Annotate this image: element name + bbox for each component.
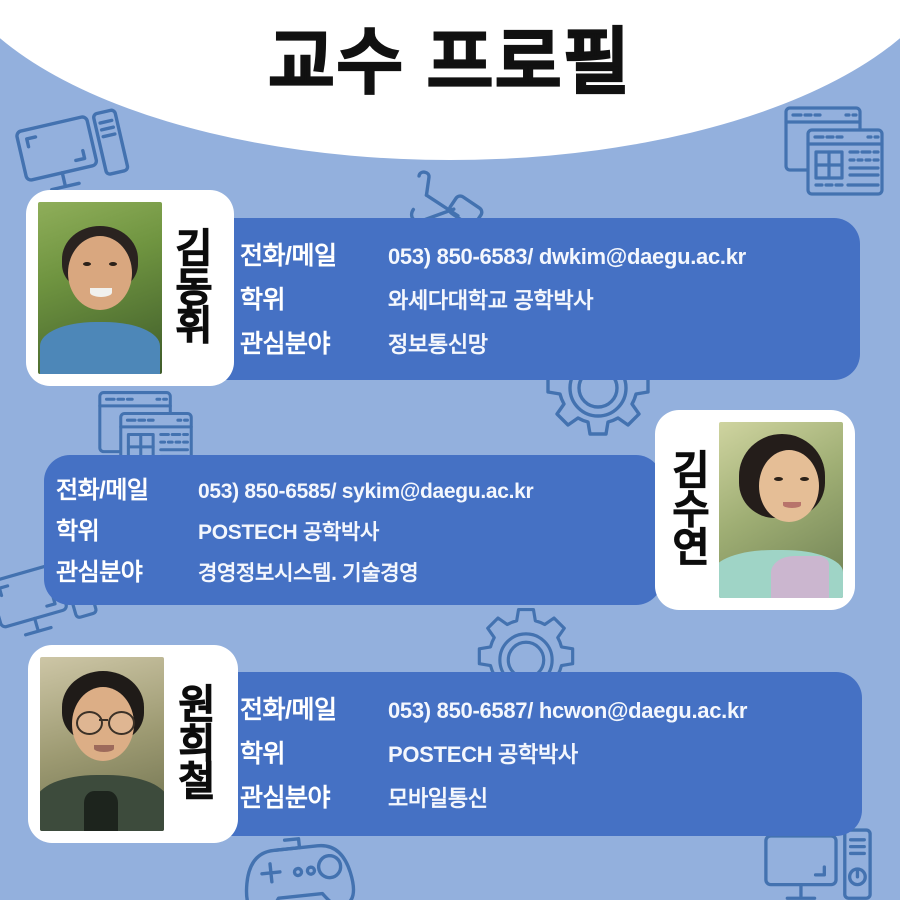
name-char: 수 bbox=[673, 491, 710, 529]
name-char: 김 bbox=[176, 230, 213, 268]
professor-fields: 전화/메일 053) 850-6583/ dwkim@daegu.ac.kr 학… bbox=[240, 236, 746, 360]
desktop-computer-icon bbox=[762, 826, 874, 900]
name-char: 김 bbox=[673, 452, 710, 490]
field-value-degree: POSTECH 공학박사 bbox=[198, 516, 379, 546]
field-label-contact: 전화/메일 bbox=[240, 236, 388, 272]
professor-profile-poster: 교수 프로필 bbox=[0, 0, 900, 900]
professor-name: 원 희 철 bbox=[168, 686, 226, 801]
name-char: 원 bbox=[179, 686, 216, 724]
name-char: 연 bbox=[673, 529, 710, 567]
field-row-contact: 전화/메일 053) 850-6587/ hcwon@daegu.ac.kr bbox=[240, 690, 747, 726]
name-char: 희 bbox=[179, 725, 216, 763]
name-char: 휘 bbox=[176, 307, 213, 345]
field-value-interests: 경영정보시스템. 기술경영 bbox=[198, 557, 418, 587]
professor-photo bbox=[40, 657, 164, 831]
field-row-interests: 관심분야 모바일통신 bbox=[240, 778, 747, 814]
field-value-contact: 053) 850-6587/ hcwon@daegu.ac.kr bbox=[388, 698, 747, 724]
field-row-degree: 학위 POSTECH 공학박사 bbox=[240, 734, 747, 770]
professor-photo bbox=[38, 202, 162, 374]
field-row-contact: 전화/메일 053) 850-6583/ dwkim@daegu.ac.kr bbox=[240, 236, 746, 272]
field-value-degree: 와세다대학교 공학박사 bbox=[388, 283, 593, 315]
field-label-contact: 전화/메일 bbox=[56, 470, 198, 505]
page-title: 교수 프로필 bbox=[0, 26, 900, 102]
field-row-interests: 관심분야 정보통신망 bbox=[240, 324, 746, 360]
field-row-degree: 학위 POSTECH 공학박사 bbox=[56, 511, 533, 546]
professor-photo-tile: 김 동 휘 bbox=[26, 190, 234, 386]
field-value-contact: 053) 850-6583/ dwkim@daegu.ac.kr bbox=[388, 244, 746, 270]
field-value-degree: POSTECH 공학박사 bbox=[388, 737, 578, 769]
professor-photo bbox=[719, 422, 843, 598]
field-label-interests: 관심분야 bbox=[56, 552, 198, 587]
field-value-interests: 모바일통신 bbox=[388, 781, 488, 813]
professor-photo-tile: 김 수 연 bbox=[655, 410, 855, 610]
field-row-interests: 관심분야 경영정보시스템. 기술경영 bbox=[56, 552, 533, 587]
professor-name: 김 수 연 bbox=[667, 452, 715, 567]
field-label-interests: 관심분야 bbox=[240, 324, 388, 360]
field-row-degree: 학위 와세다대학교 공학박사 bbox=[240, 280, 746, 316]
field-label-degree: 학위 bbox=[56, 511, 198, 546]
browser-windows-icon bbox=[782, 104, 887, 199]
field-label-interests: 관심분야 bbox=[240, 778, 388, 814]
field-row-contact: 전화/메일 053) 850-6585/ sykim@daegu.ac.kr bbox=[56, 470, 533, 505]
field-label-contact: 전화/메일 bbox=[240, 690, 388, 726]
field-label-degree: 학위 bbox=[240, 734, 388, 770]
professor-photo-tile: 원 희 철 bbox=[28, 645, 238, 843]
professor-name: 김 동 휘 bbox=[166, 230, 222, 345]
name-char: 철 bbox=[179, 763, 216, 801]
field-label-degree: 학위 bbox=[240, 280, 388, 316]
professor-fields: 전화/메일 053) 850-6585/ sykim@daegu.ac.kr 학… bbox=[56, 470, 533, 587]
name-char: 동 bbox=[176, 269, 213, 307]
field-value-interests: 정보통신망 bbox=[388, 327, 488, 359]
professor-fields: 전화/메일 053) 850-6587/ hcwon@daegu.ac.kr 학… bbox=[240, 690, 747, 814]
field-value-contact: 053) 850-6585/ sykim@daegu.ac.kr bbox=[198, 480, 533, 504]
